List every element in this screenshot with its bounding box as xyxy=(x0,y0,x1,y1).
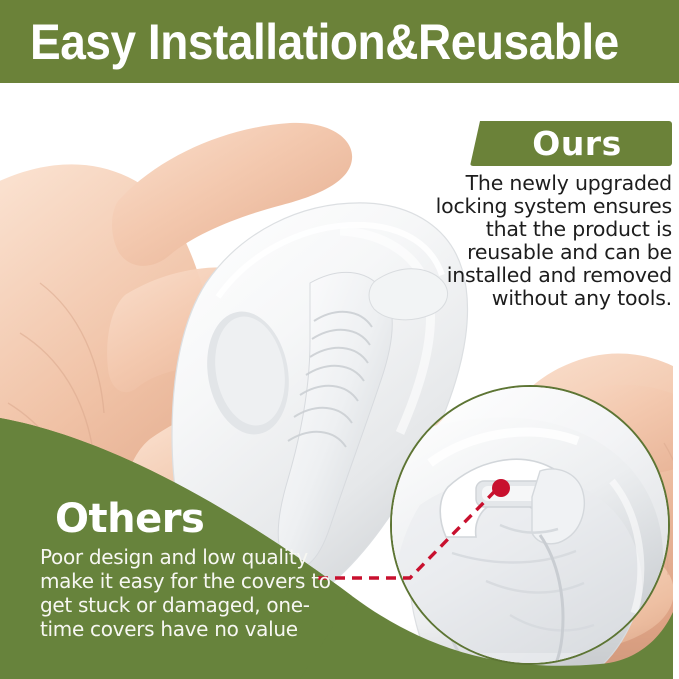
zoom-inset-circle xyxy=(390,385,670,665)
product-infographic: Easy Installation&Reusable Ours The newl… xyxy=(0,0,679,679)
ours-badge: Ours xyxy=(470,121,672,166)
inset-closeup-illustration xyxy=(390,385,670,665)
right-edge-trim xyxy=(673,83,679,679)
page-title: Easy Installation&Reusable xyxy=(30,17,619,67)
ours-badge-label: Ours xyxy=(520,127,621,160)
others-description: Poor design and low quality make it easy… xyxy=(40,545,335,641)
others-heading: Others xyxy=(55,498,204,540)
header-banner: Easy Installation&Reusable xyxy=(0,0,679,83)
ours-description: The newly upgraded locking system ensure… xyxy=(404,172,672,310)
